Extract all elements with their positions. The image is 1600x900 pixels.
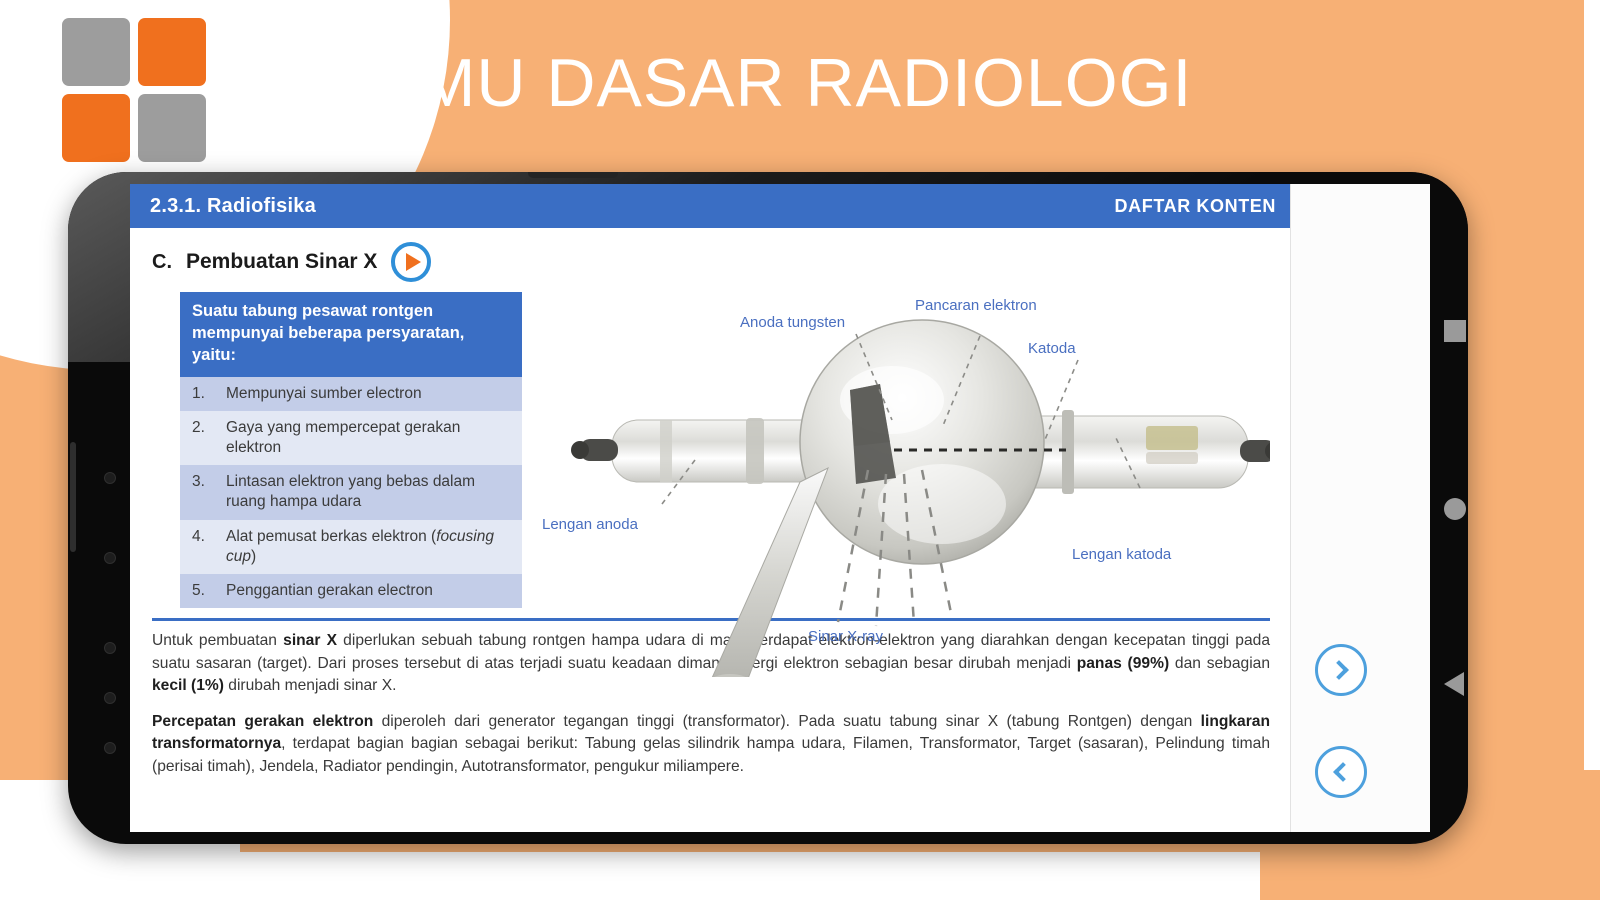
app-header-bar: 2.3.1. Radiofisika DAFTAR KONTEN: [130, 184, 1290, 228]
content-page: C. Pembuatan Sinar X Suatu tabung pesawa…: [130, 228, 1290, 832]
requirement-text: Lintasan elektron yang bebas dalam ruang…: [226, 472, 512, 512]
diagram-panel: Anoda tungsten Pancaran elektron Katoda …: [530, 292, 1270, 608]
requirement-item: 3.Lintasan elektron yang bebas dalam rua…: [180, 465, 522, 519]
circle-home-icon[interactable]: [1444, 498, 1466, 520]
requirements-heading: Suatu tabung pesawat rontgen mempunyai b…: [180, 292, 522, 377]
section-title: Pembuatan Sinar X: [186, 250, 377, 274]
background-decor-right-strip: [1584, 0, 1600, 900]
device-sensor-dot: [104, 472, 116, 484]
content-columns: Suatu tabung pesawat rontgen mempunyai b…: [152, 292, 1270, 608]
requirement-text: Mempunyai sumber electron: [226, 384, 422, 404]
earpiece-speaker: [528, 172, 618, 178]
requirement-number: 2.: [192, 418, 226, 458]
requirement-item: 4.Alat pemusat berkas elektron (focusing…: [180, 520, 522, 574]
x-ray-tube-diagram: Anoda tungsten Pancaran elektron Katoda …: [530, 292, 1270, 677]
logo-square-bottom-left: [62, 94, 130, 162]
requirements-panel: Suatu tabung pesawat rontgen mempunyai b…: [152, 292, 522, 608]
daftar-konten-button[interactable]: DAFTAR KONTEN: [1115, 196, 1276, 217]
section-letter: C.: [152, 251, 172, 274]
emphasis-text: kecil (1%): [152, 677, 224, 694]
play-audio-button[interactable]: [391, 242, 431, 282]
chevron-left-icon: [1333, 762, 1353, 782]
device-sensor-dot: [104, 742, 116, 754]
logo-square-top-left: [62, 18, 130, 86]
chevron-right-icon: [1329, 660, 1349, 680]
emphasis-text: sinar X: [283, 632, 337, 649]
requirement-item: 1.Mempunyai sumber electron: [180, 377, 522, 411]
requirement-text: Alat pemusat berkas elektron (focusing c…: [226, 527, 512, 567]
device-side-button[interactable]: [70, 442, 76, 552]
square-recents-icon[interactable]: [1444, 320, 1466, 342]
app-logo: [62, 18, 212, 168]
device-sensor-dot: [104, 552, 116, 564]
body-paragraph: Percepatan gerakan elektron diperoleh da…: [152, 711, 1270, 779]
play-icon: [406, 253, 421, 271]
screenshot-stage: ILMU DASAR RADIOLOGI 2.3.1. Radiofisika …: [0, 0, 1600, 900]
banner-title: ILMU DASAR RADIOLOGI: [360, 44, 1192, 122]
requirement-item: 5.Penggantian gerakan electron: [180, 574, 522, 608]
diagram-label: Sinar X-ray: [808, 628, 883, 645]
phone-screen: 2.3.1. Radiofisika DAFTAR KONTEN: [130, 184, 1430, 832]
paragraph-text: Untuk pembuatan: [152, 632, 283, 649]
paragraph-text: diperoleh dari generator tegangan tinggi…: [373, 713, 1200, 730]
device-sensor-dot: [104, 642, 116, 654]
requirements-list: 1.Mempunyai sumber electron2.Gaya yang m…: [180, 377, 522, 608]
next-page-button[interactable]: [1315, 644, 1367, 696]
page-title: 2.3.1. Radiofisika: [150, 195, 316, 218]
requirement-number: 5.: [192, 581, 226, 601]
logo-square-top-right: [138, 18, 206, 86]
x-ray-tube-illustration: [530, 292, 1270, 677]
android-nav-bar: [1440, 172, 1468, 844]
logo-square-bottom-right: [138, 94, 206, 162]
requirement-number: 4.: [192, 527, 226, 567]
requirement-number: 3.: [192, 472, 226, 512]
device-sensor-dot: [104, 692, 116, 704]
paragraph-text: dirubah menjadi sinar X.: [224, 677, 397, 694]
previous-page-button[interactable]: [1315, 746, 1367, 798]
diagram-label: Anoda tungsten: [740, 314, 845, 331]
diagram-label: Katoda: [1028, 340, 1076, 357]
emphasis-text: Percepatan gerakan elektron: [152, 713, 373, 730]
requirement-item: 2.Gaya yang mempercepat gerakan elektron: [180, 411, 522, 465]
paragraph-text: , terdapat bagian bagian sebagai berikut…: [152, 735, 1270, 775]
requirement-text: Gaya yang mempercepat gerakan elektron: [226, 418, 512, 458]
requirement-number: 1.: [192, 384, 226, 404]
triangle-back-icon[interactable]: [1444, 672, 1464, 696]
diagram-label: Pancaran elektron: [915, 297, 1037, 314]
diagram-label: Lengan anoda: [542, 516, 638, 533]
navigation-rail: [1290, 184, 1430, 832]
section-heading: C. Pembuatan Sinar X: [152, 242, 1270, 282]
requirement-text: Penggantian gerakan electron: [226, 581, 433, 601]
phone-device: 2.3.1. Radiofisika DAFTAR KONTEN: [68, 172, 1468, 844]
diagram-label: Lengan katoda: [1072, 546, 1171, 563]
